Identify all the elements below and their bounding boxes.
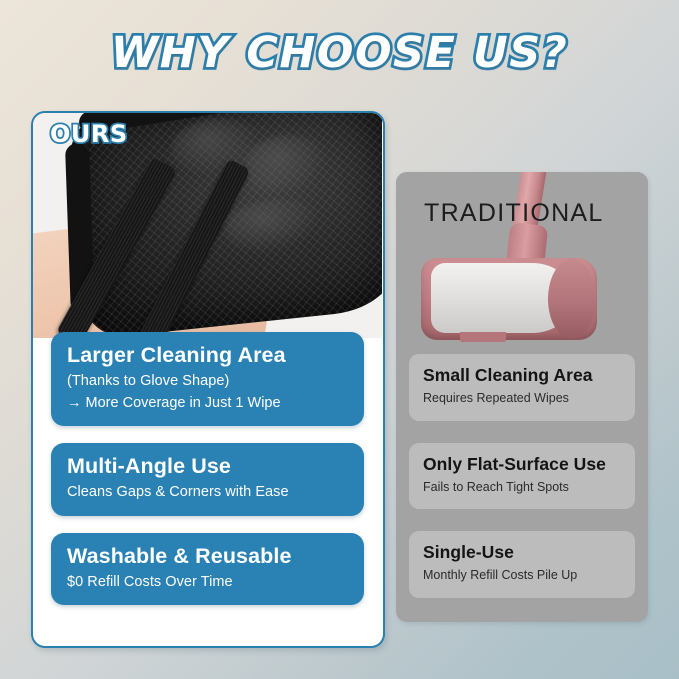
traditional-drawback-sub: Fails to Reach Tight Spots [423, 479, 621, 497]
traditional-drawback-sub: Requires Repeated Wipes [423, 390, 621, 408]
ours-feature-card: Larger Cleaning Area (Thanks to Glove Sh… [51, 332, 364, 426]
traditional-drawback-list: Small Cleaning Area Requires Repeated Wi… [409, 354, 635, 620]
ours-feature-title: Multi-Angle Use [67, 454, 348, 479]
traditional-drawback-card: Only Flat-Surface Use Fails to Reach Tig… [409, 443, 635, 510]
traditional-product-photo: TRADITIONAL [396, 172, 648, 342]
traditional-drawback-card: Small Cleaning Area Requires Repeated Wi… [409, 354, 635, 421]
ours-feature-sub: $0 Refill Costs Over Time [67, 572, 348, 593]
ours-feature-card: Multi-Angle Use Cleans Gaps & Corners wi… [51, 443, 364, 516]
ours-feature-card: Washable & Reusable $0 Refill Costs Over… [51, 533, 364, 606]
traditional-panel: TRADITIONAL Small Cleaning Area Requires… [396, 172, 648, 622]
page-title: WHY CHOOSE US? [0, 28, 679, 78]
ours-panel: OURS Larger Cleaning Area (Thanks to Glo… [31, 111, 385, 648]
traditional-drawback-sub: Monthly Refill Costs Pile Up [423, 567, 621, 585]
traditional-drawback-title: Only Flat-Surface Use [423, 454, 621, 475]
ours-feature-sub: (Thanks to Glove Shape) [67, 371, 348, 392]
ours-badge: OURS [50, 120, 128, 148]
traditional-badge: TRADITIONAL [424, 199, 604, 228]
traditional-drawback-card: Single-Use Monthly Refill Costs Pile Up [409, 531, 635, 598]
ours-feature-title: Larger Cleaning Area [67, 343, 348, 368]
roller-end-cap [548, 259, 596, 339]
comparison-infographic: WHY CHOOSE US? OURS [0, 0, 679, 679]
ours-feature-sub2: → More Coverage in Just 1 Wipe [67, 393, 348, 414]
roller-foot [460, 332, 506, 342]
ours-product-photo: OURS [33, 113, 382, 338]
ours-feature-title: Washable & Reusable [67, 544, 348, 569]
traditional-drawback-title: Small Cleaning Area [423, 365, 621, 386]
ours-feature-sub: Cleans Gaps & Corners with Ease [67, 482, 348, 503]
ours-feature-list: Larger Cleaning Area (Thanks to Glove Sh… [51, 332, 364, 622]
traditional-drawback-title: Single-Use [423, 542, 621, 563]
